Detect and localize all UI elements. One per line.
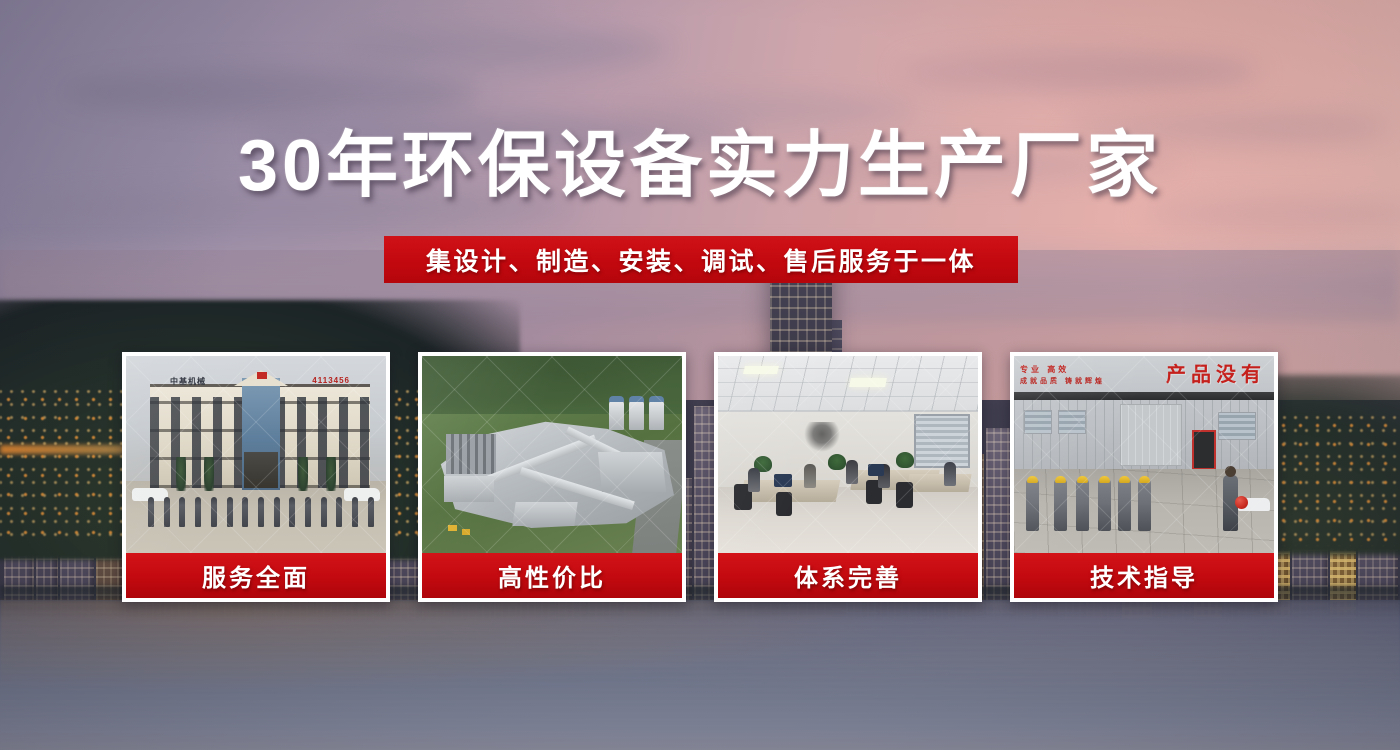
excavator-shape — [448, 525, 457, 531]
staff-row — [148, 493, 374, 527]
card-caption-bar: 服务全面 — [126, 553, 386, 598]
tree-shape — [204, 457, 214, 491]
cloud-shape — [60, 70, 480, 116]
office-desk — [906, 474, 971, 492]
safety-helmet-icon — [1099, 476, 1110, 483]
card-caption-bar: 高性价比 — [422, 553, 682, 598]
silo-shape — [609, 400, 624, 430]
computer-monitor — [868, 464, 884, 476]
worker-figure — [1118, 479, 1131, 531]
factory-banner-main-text: 产品没有 — [1166, 358, 1266, 387]
tree-shape — [176, 457, 186, 491]
cloud-shape — [1140, 200, 1400, 230]
factory-roller-door — [1120, 404, 1182, 466]
card-caption-text: 技术指导 — [1090, 558, 1198, 593]
factory-banner-slogan-1: 专业 高效 — [1020, 364, 1069, 375]
card-caption-bar: 体系完善 — [718, 553, 978, 598]
office-window-blinds — [914, 414, 970, 468]
page-title: 30年环保设备实力生产厂家 — [0, 130, 1400, 202]
safety-helmet-icon — [1055, 476, 1066, 483]
feature-card-row: 中基机械 4113456 服务全面 — [122, 352, 1278, 602]
instructor-head — [1225, 466, 1236, 477]
silo-shape — [629, 400, 644, 430]
tree-shape — [326, 457, 336, 491]
office-ceiling — [718, 356, 978, 412]
card-caption-bar: 技术指导 — [1014, 553, 1274, 598]
safety-helmet-icon — [1139, 476, 1150, 483]
building-phone-sign: 4113456 — [312, 376, 350, 385]
office-workspace-photo — [718, 356, 978, 553]
worker-figure — [1026, 479, 1039, 531]
silo-shape — [649, 400, 664, 430]
feature-card[interactable]: 高性价比 — [418, 352, 686, 602]
red-helmet-icon — [1235, 496, 1248, 509]
factory-side-door — [1192, 430, 1216, 470]
warehouse-shape — [444, 476, 494, 502]
cloud-shape — [340, 30, 670, 68]
warehouse-shape — [512, 502, 577, 526]
worker-figure — [1138, 479, 1151, 531]
cloud-shape — [620, 96, 920, 124]
worker-figure — [1076, 479, 1089, 531]
plant-stacks — [446, 434, 496, 474]
flag-icon — [257, 372, 267, 379]
factory-banner-strip: 产品没有 专业 高效 成就品质 铸就辉煌 — [1014, 356, 1274, 392]
office-chair — [776, 492, 792, 516]
office-worker — [804, 464, 816, 488]
technical-training-photo: 产品没有 专业 高效 成就品质 铸就辉煌 — [1014, 356, 1274, 553]
subtitle-bar: 集设计、制造、安装、调试、售后服务于一体 — [384, 236, 1018, 283]
card-caption-text: 服务全面 — [202, 558, 310, 593]
safety-helmet-icon — [1027, 476, 1038, 483]
production-plant-aerial-photo — [422, 356, 682, 553]
building-entrance — [244, 452, 278, 488]
worker-figure — [1098, 479, 1111, 531]
feature-card[interactable]: 产品没有 专业 高效 成就品质 铸就辉煌 — [1010, 352, 1278, 602]
worker-figure — [1054, 479, 1067, 531]
subtitle-text: 集设计、制造、安装、调试、售后服务于一体 — [426, 242, 976, 278]
ceiling-light — [743, 366, 779, 374]
factory-beam — [1014, 392, 1274, 400]
building-brand-sign: 中基机械 — [170, 376, 206, 387]
feature-card[interactable]: 体系完善 — [714, 352, 982, 602]
tree-shape — [298, 457, 308, 491]
river-water — [0, 600, 1400, 750]
warehouse-shape — [598, 452, 666, 492]
office-worker — [846, 460, 858, 484]
silo-cap — [609, 396, 624, 402]
card-caption-text: 高性价比 — [498, 558, 606, 593]
company-headquarters-photo: 中基机械 4113456 — [126, 356, 386, 553]
potted-plant — [828, 454, 846, 470]
safety-helmet-icon — [1119, 476, 1130, 483]
office-worker — [944, 462, 956, 486]
excavator-shape — [462, 529, 470, 535]
factory-window — [1058, 410, 1086, 434]
factory-banner-slogan-2: 成就品质 铸就辉煌 — [1020, 376, 1105, 386]
silo-cap — [629, 396, 644, 402]
potted-plant — [896, 452, 914, 468]
office-chair — [896, 482, 913, 508]
wall-logo-decal — [804, 422, 840, 452]
factory-window — [1024, 410, 1052, 434]
factory-window — [1218, 412, 1256, 440]
silo-cap — [649, 396, 664, 402]
card-caption-text: 体系完善 — [794, 558, 902, 593]
cloud-shape — [900, 52, 1260, 92]
safety-helmet-icon — [1077, 476, 1088, 483]
computer-monitor — [774, 474, 792, 487]
feature-card[interactable]: 中基机械 4113456 服务全面 — [122, 352, 390, 602]
office-worker — [748, 468, 760, 492]
promo-banner: 30年环保设备实力生产厂家 集设计、制造、安装、调试、售后服务于一体 中基机械 … — [0, 0, 1400, 750]
ceiling-light — [849, 378, 887, 387]
